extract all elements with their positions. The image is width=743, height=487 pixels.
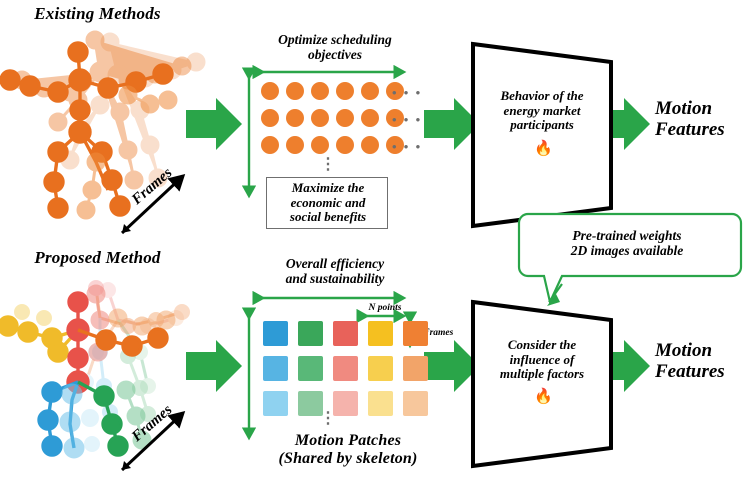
- patch-r1c1: [263, 321, 288, 346]
- skeleton-graph-existing: [1, 32, 204, 218]
- patch-r2c1: [263, 356, 288, 381]
- patch-r1c5: [403, 321, 428, 346]
- patch-r2c2: [298, 356, 323, 381]
- flame-icon-top: 🔥: [534, 142, 553, 157]
- patch-r1c3: [333, 321, 358, 346]
- patch-r2c4: [368, 356, 393, 381]
- output-label-existing: Motion Features: [655, 99, 743, 141]
- patch-r1c2: [298, 321, 323, 346]
- caption-motion-patches: Motion Patches (Shared by skeleton): [243, 432, 453, 468]
- row-ellipsis-3: • • •: [392, 139, 422, 155]
- trapezoid-existing: [473, 44, 611, 226]
- callout-text: Pre-trained weights 2D images available: [517, 228, 737, 258]
- patch-r3c5: [403, 391, 428, 416]
- patch-r1c4: [368, 321, 393, 346]
- note-box-text: Maximize the economic and social benefit…: [267, 181, 389, 225]
- title-existing-methods: Existing Methods: [10, 4, 185, 23]
- label-n-points: N points: [357, 303, 413, 314]
- trapezoid-proposed-text: Consider the influence of multiple facto…: [481, 338, 603, 382]
- flame-icon-bottom: 🔥: [534, 390, 553, 405]
- patch-r2c3: [333, 356, 358, 381]
- column-ellipsis-bottom: ⋮: [320, 414, 334, 424]
- header-overall-efficiency: Overall efficiency and sustainability: [250, 256, 420, 286]
- flow-arrow-4: [186, 340, 242, 392]
- header-optimize-scheduling: Optimize scheduling objectives: [255, 32, 415, 62]
- row-ellipsis-1: • • •: [392, 85, 422, 101]
- patch-r2c5: [403, 356, 428, 381]
- flow-arrow-1: [186, 98, 242, 150]
- trapezoid-proposed: [473, 302, 611, 466]
- patch-r3c3: [333, 391, 358, 416]
- figure-canvas: Existing Methods Frames Optimize schedul…: [0, 0, 743, 487]
- patch-r3c4: [368, 391, 393, 416]
- note-box-maximize: Maximize the economic and social benefit…: [266, 177, 388, 229]
- trapezoid-existing-text: Behavior of the energy market participan…: [483, 89, 601, 133]
- column-ellipsis-top: ⋮: [320, 160, 334, 170]
- output-label-proposed: Motion Features: [655, 341, 743, 383]
- title-proposed-method: Proposed Method: [10, 248, 185, 267]
- skeleton-graph-proposed: [0, 280, 190, 457]
- patch-r3c1: [263, 391, 288, 416]
- row-ellipsis-2: • • •: [392, 112, 422, 128]
